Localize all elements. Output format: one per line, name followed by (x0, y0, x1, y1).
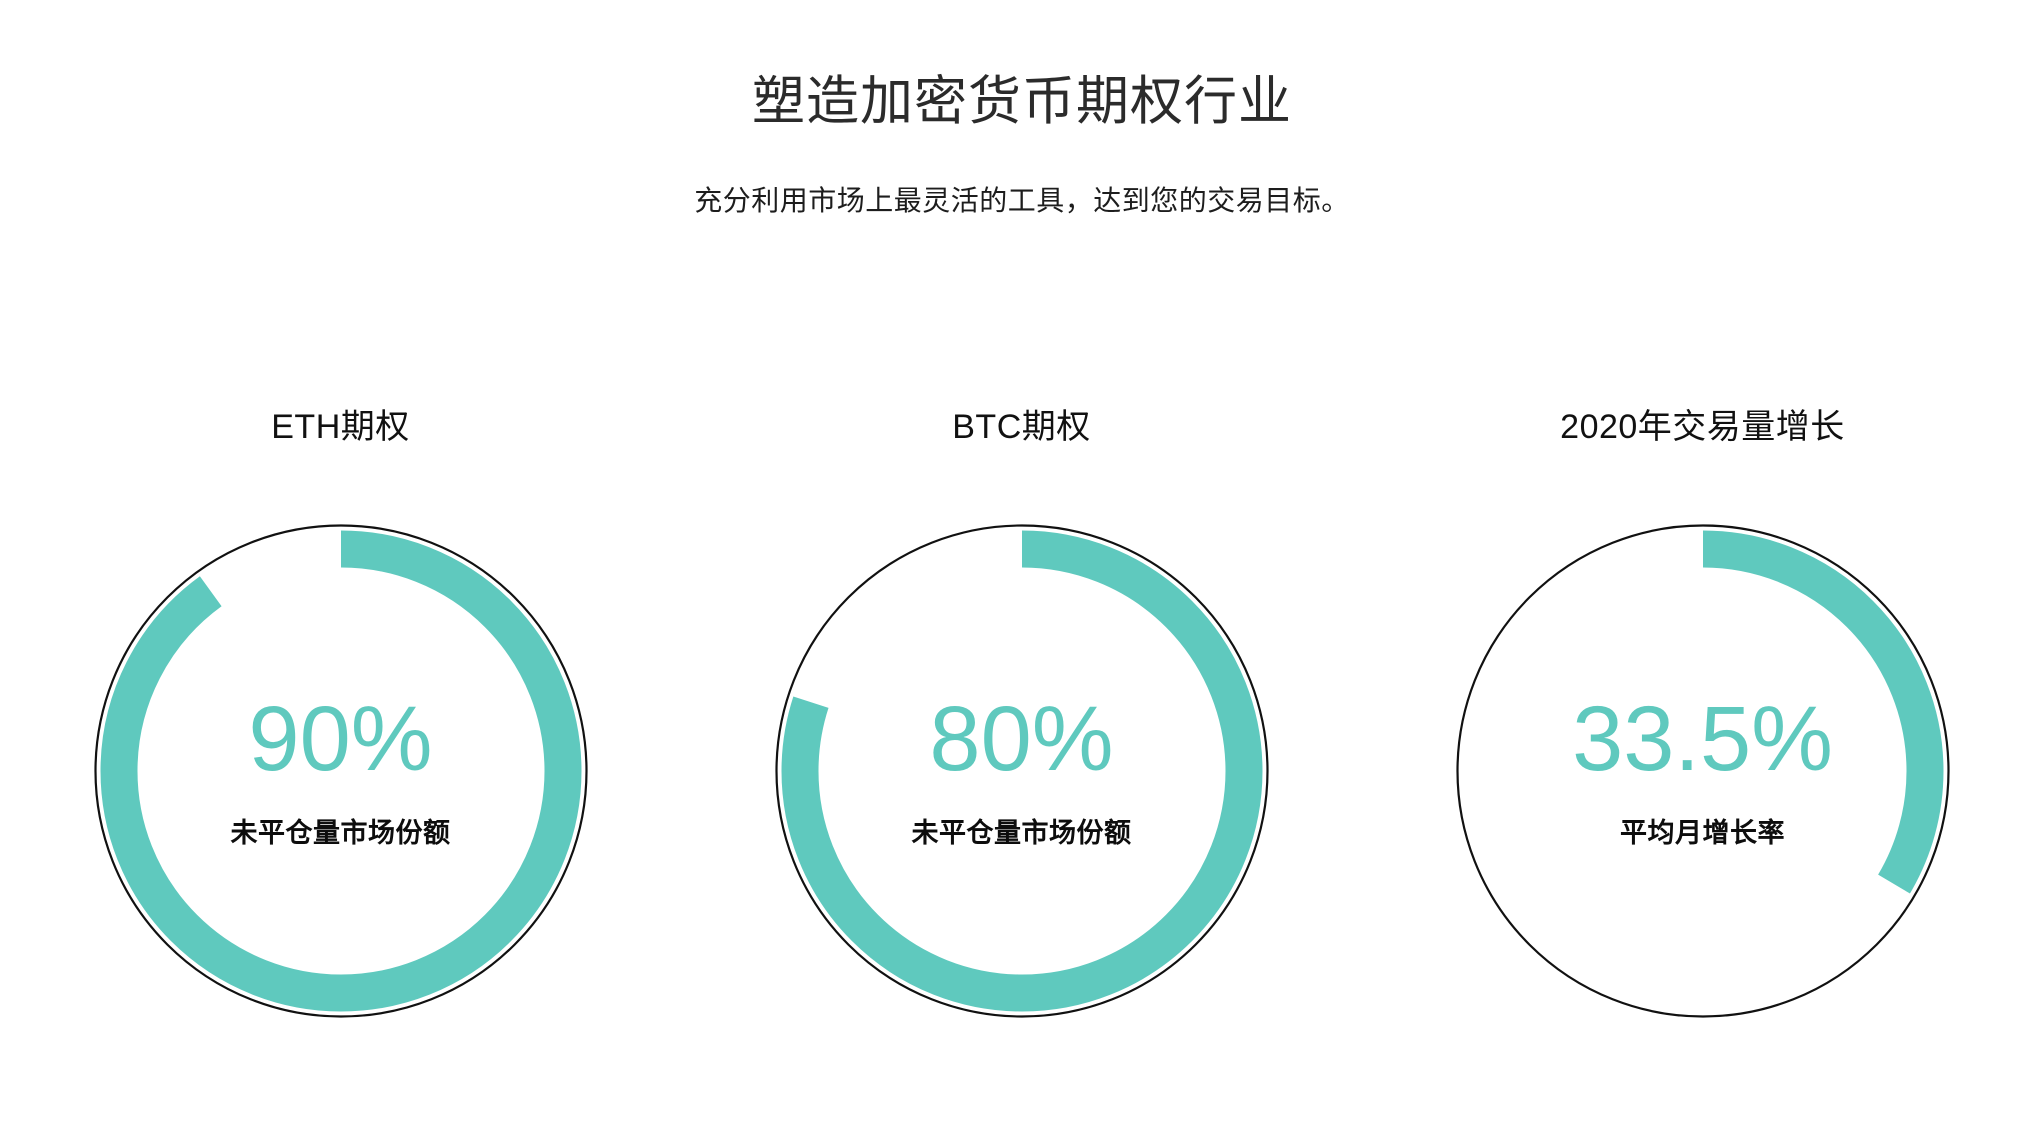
gauge-label: 平均月增长率 (1620, 789, 1785, 850)
stat-heading: BTC期权 (952, 405, 1091, 450)
gauge-center-content: 33.5% 平均月增长率 (1455, 523, 1951, 1019)
stat-card-btc: BTC期权 80% 未平仓量市场份额 (681, 405, 1362, 1019)
gauge-center-content: 90% 未平仓量市场份额 (93, 523, 589, 1019)
stat-heading: 2020年交易量增长 (1560, 405, 1845, 450)
donut-gauge: 80% 未平仓量市场份额 (774, 523, 1270, 1019)
stat-card-eth: ETH期权 90% 未平仓量市场份额 (0, 405, 681, 1019)
page-subtitle: 充分利用市场上最灵活的工具，达到您的交易目标。 (0, 133, 2044, 219)
stat-card-volume-growth: 2020年交易量增长 33.5% 平均月增长率 (1362, 405, 2043, 1019)
gauge-value: 80% (929, 693, 1113, 789)
gauge-center-content: 80% 未平仓量市场份额 (774, 523, 1270, 1019)
gauge-label: 未平仓量市场份额 (231, 789, 451, 850)
gauge-value: 90% (248, 693, 432, 789)
slide-canvas: 塑造加密货币期权行业 充分利用市场上最灵活的工具，达到您的交易目标。 ETH期权… (0, 0, 2044, 1142)
donut-gauge: 33.5% 平均月增长率 (1455, 523, 1951, 1019)
gauge-label: 未平仓量市场份额 (912, 789, 1132, 850)
slide-header: 塑造加密货币期权行业 充分利用市场上最灵活的工具，达到您的交易目标。 (0, 0, 2044, 219)
page-title: 塑造加密货币期权行业 (0, 0, 2044, 133)
stats-row: ETH期权 90% 未平仓量市场份额 BTC期权 (0, 405, 2044, 1019)
donut-gauge: 90% 未平仓量市场份额 (93, 523, 589, 1019)
stat-heading: ETH期权 (271, 405, 410, 450)
gauge-value: 33.5% (1572, 693, 1833, 789)
